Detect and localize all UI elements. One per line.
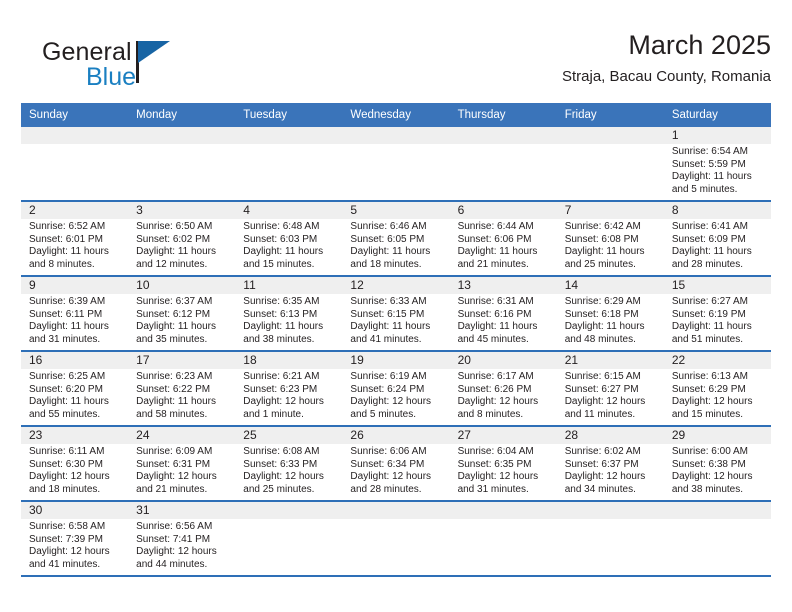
day-number: 20: [458, 352, 551, 369]
day-sunrise-text: Sunrise: 6:42 AM: [565, 221, 658, 234]
day-daylight-line1-text: Daylight: 12 hours: [458, 471, 551, 484]
day-sunset-text: Sunset: 6:06 PM: [458, 234, 551, 247]
day-sunrise-text: Sunrise: 6:56 AM: [136, 521, 229, 534]
calendar-day-cell[interactable]: 12Sunrise: 6:33 AMSunset: 6:15 PMDayligh…: [342, 277, 449, 350]
day-daylight-line1-text: Daylight: 11 hours: [672, 171, 765, 184]
day-number: 14: [565, 277, 658, 294]
calendar-day-cell[interactable]: 28Sunrise: 6:02 AMSunset: 6:37 PMDayligh…: [557, 427, 664, 500]
day-sunset-text: Sunset: 6:38 PM: [672, 459, 765, 472]
calendar-day-cell[interactable]: 14Sunrise: 6:29 AMSunset: 6:18 PMDayligh…: [557, 277, 664, 350]
calendar-day-cell[interactable]: 24Sunrise: 6:09 AMSunset: 6:31 PMDayligh…: [128, 427, 235, 500]
day-daylight-line2-text: and 15 minutes.: [672, 409, 765, 422]
day-daylight-line1-text: Daylight: 12 hours: [565, 396, 658, 409]
calendar-day-cell[interactable]: 25Sunrise: 6:08 AMSunset: 6:33 PMDayligh…: [235, 427, 342, 500]
day-sunset-text: Sunset: 6:30 PM: [29, 459, 122, 472]
day-sunset-text: Sunset: 5:59 PM: [672, 159, 765, 172]
day-number: 6: [458, 202, 551, 219]
day-daylight-line2-text: and 34 minutes.: [565, 484, 658, 497]
day-sun-info: Sunrise: 6:21 AMSunset: 6:23 PMDaylight:…: [243, 369, 336, 421]
day-daylight-line2-text: and 8 minutes.: [458, 409, 551, 422]
day-daylight-line2-text: and 38 minutes.: [672, 484, 765, 497]
day-daylight-line1-text: Daylight: 11 hours: [672, 246, 765, 259]
day-daylight-line1-text: Daylight: 11 hours: [243, 246, 336, 259]
day-sun-info: Sunrise: 6:48 AMSunset: 6:03 PMDaylight:…: [243, 219, 336, 271]
day-sunset-text: Sunset: 6:18 PM: [565, 309, 658, 322]
calendar-day-cell[interactable]: 13Sunrise: 6:31 AMSunset: 6:16 PMDayligh…: [450, 277, 557, 350]
day-sunset-text: Sunset: 6:23 PM: [243, 384, 336, 397]
day-sun-info: Sunrise: 6:44 AMSunset: 6:06 PMDaylight:…: [458, 219, 551, 271]
day-daylight-line2-text: and 31 minutes.: [29, 334, 122, 347]
calendar-day-cell-empty: [342, 127, 449, 200]
day-sunset-text: Sunset: 6:29 PM: [672, 384, 765, 397]
calendar-weeks: 1Sunrise: 6:54 AMSunset: 5:59 PMDaylight…: [21, 127, 771, 577]
day-sunset-text: Sunset: 6:13 PM: [243, 309, 336, 322]
day-daylight-line2-text: and 31 minutes.: [458, 484, 551, 497]
day-number: 2: [29, 202, 122, 219]
day-sunset-text: Sunset: 6:01 PM: [29, 234, 122, 247]
day-sunrise-text: Sunrise: 6:29 AM: [565, 296, 658, 309]
day-sunrise-text: Sunrise: 6:15 AM: [565, 371, 658, 384]
day-daylight-line1-text: Daylight: 11 hours: [29, 246, 122, 259]
day-sun-info: Sunrise: 6:11 AMSunset: 6:30 PMDaylight:…: [29, 444, 122, 496]
day-daylight-line1-text: Daylight: 12 hours: [350, 396, 443, 409]
day-sun-info: Sunrise: 6:35 AMSunset: 6:13 PMDaylight:…: [243, 294, 336, 346]
calendar-day-cell[interactable]: 8Sunrise: 6:41 AMSunset: 6:09 PMDaylight…: [664, 202, 771, 275]
day-number: 31: [136, 502, 229, 519]
calendar-day-cell[interactable]: 19Sunrise: 6:19 AMSunset: 6:24 PMDayligh…: [342, 352, 449, 425]
day-daylight-line1-text: Daylight: 11 hours: [243, 321, 336, 334]
calendar-day-cell-empty: [342, 502, 449, 575]
day-sunset-text: Sunset: 6:22 PM: [136, 384, 229, 397]
day-sun-info: Sunrise: 6:52 AMSunset: 6:01 PMDaylight:…: [29, 219, 122, 271]
calendar-day-cell[interactable]: 21Sunrise: 6:15 AMSunset: 6:27 PMDayligh…: [557, 352, 664, 425]
day-daylight-line2-text: and 18 minutes.: [350, 259, 443, 272]
day-daylight-line1-text: Daylight: 11 hours: [672, 321, 765, 334]
brand-name-blue: Blue: [86, 63, 136, 92]
calendar-week-row: 23Sunrise: 6:11 AMSunset: 6:30 PMDayligh…: [21, 427, 771, 502]
day-sunset-text: Sunset: 6:03 PM: [243, 234, 336, 247]
day-sun-info: Sunrise: 6:31 AMSunset: 6:16 PMDaylight:…: [458, 294, 551, 346]
day-daylight-line2-text: and 45 minutes.: [458, 334, 551, 347]
day-sun-info: Sunrise: 6:17 AMSunset: 6:26 PMDaylight:…: [458, 369, 551, 421]
weekday-header-thursday: Thursday: [450, 103, 557, 127]
calendar-day-cell-empty: [450, 127, 557, 200]
day-daylight-line1-text: Daylight: 11 hours: [29, 321, 122, 334]
day-sunset-text: Sunset: 6:08 PM: [565, 234, 658, 247]
calendar-day-cell-empty: [450, 502, 557, 575]
day-daylight-line1-text: Daylight: 12 hours: [29, 471, 122, 484]
day-sun-info: Sunrise: 6:37 AMSunset: 6:12 PMDaylight:…: [136, 294, 229, 346]
day-sun-info: Sunrise: 6:58 AMSunset: 7:39 PMDaylight:…: [29, 519, 122, 571]
calendar-day-cell[interactable]: 5Sunrise: 6:46 AMSunset: 6:05 PMDaylight…: [342, 202, 449, 275]
title-block: March 2025 Straja, Bacau County, Romania: [562, 28, 771, 88]
calendar-week-row: 9Sunrise: 6:39 AMSunset: 6:11 PMDaylight…: [21, 277, 771, 352]
day-daylight-line1-text: Daylight: 11 hours: [565, 321, 658, 334]
triangle-flag-icon: [138, 41, 170, 63]
day-sunset-text: Sunset: 6:19 PM: [672, 309, 765, 322]
day-sun-info: Sunrise: 6:25 AMSunset: 6:20 PMDaylight:…: [29, 369, 122, 421]
day-number: 21: [565, 352, 658, 369]
day-sunrise-text: Sunrise: 6:52 AM: [29, 221, 122, 234]
day-number: 13: [458, 277, 551, 294]
day-daylight-line1-text: Daylight: 12 hours: [243, 396, 336, 409]
calendar-day-cell[interactable]: 18Sunrise: 6:21 AMSunset: 6:23 PMDayligh…: [235, 352, 342, 425]
day-daylight-line2-text: and 38 minutes.: [243, 334, 336, 347]
day-number: 19: [350, 352, 443, 369]
day-daylight-line1-text: Daylight: 11 hours: [565, 246, 658, 259]
page-subtitle: Straja, Bacau County, Romania: [562, 66, 771, 88]
day-sunset-text: Sunset: 7:39 PM: [29, 534, 122, 547]
day-sunset-text: Sunset: 6:27 PM: [565, 384, 658, 397]
day-number: 18: [243, 352, 336, 369]
day-daylight-line2-text: and 28 minutes.: [672, 259, 765, 272]
calendar-day-cell[interactable]: 11Sunrise: 6:35 AMSunset: 6:13 PMDayligh…: [235, 277, 342, 350]
weekday-header-sunday: Sunday: [21, 103, 128, 127]
day-daylight-line2-text: and 51 minutes.: [672, 334, 765, 347]
day-sunset-text: Sunset: 6:12 PM: [136, 309, 229, 322]
calendar-day-cell[interactable]: 17Sunrise: 6:23 AMSunset: 6:22 PMDayligh…: [128, 352, 235, 425]
day-sunrise-text: Sunrise: 6:58 AM: [29, 521, 122, 534]
calendar-day-cell[interactable]: 20Sunrise: 6:17 AMSunset: 6:26 PMDayligh…: [450, 352, 557, 425]
day-daylight-line1-text: Daylight: 11 hours: [350, 321, 443, 334]
day-daylight-line2-text: and 25 minutes.: [243, 484, 336, 497]
day-sun-info: Sunrise: 6:50 AMSunset: 6:02 PMDaylight:…: [136, 219, 229, 271]
day-number: 7: [565, 202, 658, 219]
day-sunset-text: Sunset: 6:34 PM: [350, 459, 443, 472]
day-daylight-line1-text: Daylight: 12 hours: [458, 396, 551, 409]
calendar-day-cell-empty: [557, 127, 664, 200]
day-sunset-text: Sunset: 6:31 PM: [136, 459, 229, 472]
calendar-day-cell[interactable]: 26Sunrise: 6:06 AMSunset: 6:34 PMDayligh…: [342, 427, 449, 500]
day-sunset-text: Sunset: 6:15 PM: [350, 309, 443, 322]
day-number: 26: [350, 427, 443, 444]
brand-logo[interactable]: General Blue: [42, 38, 272, 98]
day-number: 23: [29, 427, 122, 444]
day-number: 30: [29, 502, 122, 519]
calendar-day-cell[interactable]: 16Sunrise: 6:25 AMSunset: 6:20 PMDayligh…: [21, 352, 128, 425]
day-daylight-line1-text: Daylight: 12 hours: [672, 471, 765, 484]
day-sunrise-text: Sunrise: 6:02 AM: [565, 446, 658, 459]
day-sunrise-text: Sunrise: 6:37 AM: [136, 296, 229, 309]
calendar-day-cell-empty: [21, 127, 128, 200]
day-sunrise-text: Sunrise: 6:19 AM: [350, 371, 443, 384]
day-number: 28: [565, 427, 658, 444]
page-header: General Blue March 2025 Straja, Bacau Co…: [21, 28, 771, 98]
calendar-day-cell[interactable]: 27Sunrise: 6:04 AMSunset: 6:35 PMDayligh…: [450, 427, 557, 500]
day-daylight-line2-text: and 1 minute.: [243, 409, 336, 422]
calendar-grid: Sunday Monday Tuesday Wednesday Thursday…: [21, 103, 771, 577]
day-daylight-line2-text: and 21 minutes.: [458, 259, 551, 272]
day-sunrise-text: Sunrise: 6:06 AM: [350, 446, 443, 459]
day-sunrise-text: Sunrise: 6:00 AM: [672, 446, 765, 459]
day-sunrise-text: Sunrise: 6:33 AM: [350, 296, 443, 309]
day-sunset-text: Sunset: 6:16 PM: [458, 309, 551, 322]
day-sunrise-text: Sunrise: 6:41 AM: [672, 221, 765, 234]
weekday-header-tuesday: Tuesday: [235, 103, 342, 127]
day-sun-info: Sunrise: 6:41 AMSunset: 6:09 PMDaylight:…: [672, 219, 765, 271]
calendar-day-cell-empty: [664, 502, 771, 575]
day-sun-info: Sunrise: 6:46 AMSunset: 6:05 PMDaylight:…: [350, 219, 443, 271]
day-sun-info: Sunrise: 6:00 AMSunset: 6:38 PMDaylight:…: [672, 444, 765, 496]
day-sun-info: Sunrise: 6:19 AMSunset: 6:24 PMDaylight:…: [350, 369, 443, 421]
weekday-header-wednesday: Wednesday: [342, 103, 449, 127]
day-number: 5: [350, 202, 443, 219]
day-number: 12: [350, 277, 443, 294]
day-daylight-line2-text: and 41 minutes.: [350, 334, 443, 347]
day-sunrise-text: Sunrise: 6:08 AM: [243, 446, 336, 459]
day-sun-info: Sunrise: 6:23 AMSunset: 6:22 PMDaylight:…: [136, 369, 229, 421]
calendar-week-row: 2Sunrise: 6:52 AMSunset: 6:01 PMDaylight…: [21, 202, 771, 277]
day-daylight-line2-text: and 21 minutes.: [136, 484, 229, 497]
day-sunset-text: Sunset: 6:05 PM: [350, 234, 443, 247]
weekday-header-monday: Monday: [128, 103, 235, 127]
day-daylight-line1-text: Daylight: 12 hours: [136, 546, 229, 559]
day-number: 16: [29, 352, 122, 369]
calendar-week-row: 30Sunrise: 6:58 AMSunset: 7:39 PMDayligh…: [21, 502, 771, 577]
day-sunrise-text: Sunrise: 6:44 AM: [458, 221, 551, 234]
day-daylight-line2-text: and 8 minutes.: [29, 259, 122, 272]
day-sun-info: Sunrise: 6:02 AMSunset: 6:37 PMDaylight:…: [565, 444, 658, 496]
calendar-day-cell[interactable]: 9Sunrise: 6:39 AMSunset: 6:11 PMDaylight…: [21, 277, 128, 350]
day-daylight-line2-text: and 48 minutes.: [565, 334, 658, 347]
day-sunrise-text: Sunrise: 6:09 AM: [136, 446, 229, 459]
day-sunrise-text: Sunrise: 6:23 AM: [136, 371, 229, 384]
day-sun-info: Sunrise: 6:04 AMSunset: 6:35 PMDaylight:…: [458, 444, 551, 496]
calendar-day-cell[interactable]: 1Sunrise: 6:54 AMSunset: 5:59 PMDaylight…: [664, 127, 771, 200]
day-sun-info: Sunrise: 6:06 AMSunset: 6:34 PMDaylight:…: [350, 444, 443, 496]
day-sun-info: Sunrise: 6:09 AMSunset: 6:31 PMDaylight:…: [136, 444, 229, 496]
day-number: 10: [136, 277, 229, 294]
day-number: 22: [672, 352, 765, 369]
calendar-day-cell-empty: [557, 502, 664, 575]
calendar-day-cell[interactable]: 29Sunrise: 6:00 AMSunset: 6:38 PMDayligh…: [664, 427, 771, 500]
calendar-day-cell[interactable]: 6Sunrise: 6:44 AMSunset: 6:06 PMDaylight…: [450, 202, 557, 275]
day-daylight-line2-text: and 12 minutes.: [136, 259, 229, 272]
day-daylight-line1-text: Daylight: 12 hours: [672, 396, 765, 409]
day-daylight-line1-text: Daylight: 12 hours: [29, 546, 122, 559]
day-sunset-text: Sunset: 6:24 PM: [350, 384, 443, 397]
day-number: 9: [29, 277, 122, 294]
weekday-header-friday: Friday: [557, 103, 664, 127]
day-sunset-text: Sunset: 6:33 PM: [243, 459, 336, 472]
calendar-day-cell[interactable]: 7Sunrise: 6:42 AMSunset: 6:08 PMDaylight…: [557, 202, 664, 275]
day-sunrise-text: Sunrise: 6:39 AM: [29, 296, 122, 309]
day-sunrise-text: Sunrise: 6:48 AM: [243, 221, 336, 234]
day-sunrise-text: Sunrise: 6:04 AM: [458, 446, 551, 459]
day-daylight-line2-text: and 58 minutes.: [136, 409, 229, 422]
day-daylight-line2-text: and 28 minutes.: [350, 484, 443, 497]
calendar-week-row: 16Sunrise: 6:25 AMSunset: 6:20 PMDayligh…: [21, 352, 771, 427]
day-sunset-text: Sunset: 7:41 PM: [136, 534, 229, 547]
day-sunrise-text: Sunrise: 6:11 AM: [29, 446, 122, 459]
day-sunrise-text: Sunrise: 6:54 AM: [672, 146, 765, 159]
day-number: 8: [672, 202, 765, 219]
day-daylight-line1-text: Daylight: 11 hours: [350, 246, 443, 259]
day-sunrise-text: Sunrise: 6:46 AM: [350, 221, 443, 234]
day-number: 1: [672, 127, 765, 144]
day-sun-info: Sunrise: 6:08 AMSunset: 6:33 PMDaylight:…: [243, 444, 336, 496]
day-sun-info: Sunrise: 6:27 AMSunset: 6:19 PMDaylight:…: [672, 294, 765, 346]
day-daylight-line2-text: and 41 minutes.: [29, 559, 122, 572]
calendar-day-cell[interactable]: 31Sunrise: 6:56 AMSunset: 7:41 PMDayligh…: [128, 502, 235, 575]
day-number: 15: [672, 277, 765, 294]
day-daylight-line1-text: Daylight: 11 hours: [136, 321, 229, 334]
day-sunrise-text: Sunrise: 6:50 AM: [136, 221, 229, 234]
calendar-day-cell-empty: [235, 502, 342, 575]
day-sun-info: Sunrise: 6:54 AMSunset: 5:59 PMDaylight:…: [672, 144, 765, 196]
calendar-day-cell-empty: [128, 127, 235, 200]
calendar-day-cell[interactable]: 23Sunrise: 6:11 AMSunset: 6:30 PMDayligh…: [21, 427, 128, 500]
day-number: 25: [243, 427, 336, 444]
day-sunset-text: Sunset: 6:35 PM: [458, 459, 551, 472]
day-daylight-line2-text: and 5 minutes.: [672, 184, 765, 197]
day-daylight-line1-text: Daylight: 11 hours: [29, 396, 122, 409]
day-daylight-line1-text: Daylight: 11 hours: [458, 321, 551, 334]
day-number: 29: [672, 427, 765, 444]
day-daylight-line2-text: and 44 minutes.: [136, 559, 229, 572]
day-sunrise-text: Sunrise: 6:13 AM: [672, 371, 765, 384]
calendar-page: General Blue March 2025 Straja, Bacau Co…: [0, 0, 792, 612]
day-sun-info: Sunrise: 6:33 AMSunset: 6:15 PMDaylight:…: [350, 294, 443, 346]
day-daylight-line1-text: Daylight: 12 hours: [243, 471, 336, 484]
day-daylight-line1-text: Daylight: 11 hours: [136, 396, 229, 409]
day-daylight-line2-text: and 35 minutes.: [136, 334, 229, 347]
day-number: 4: [243, 202, 336, 219]
day-daylight-line1-text: Daylight: 11 hours: [136, 246, 229, 259]
calendar-day-cell[interactable]: 22Sunrise: 6:13 AMSunset: 6:29 PMDayligh…: [664, 352, 771, 425]
day-sunrise-text: Sunrise: 6:35 AM: [243, 296, 336, 309]
day-daylight-line2-text: and 11 minutes.: [565, 409, 658, 422]
day-sun-info: Sunrise: 6:29 AMSunset: 6:18 PMDaylight:…: [565, 294, 658, 346]
day-daylight-line1-text: Daylight: 11 hours: [458, 246, 551, 259]
day-sunset-text: Sunset: 6:20 PM: [29, 384, 122, 397]
calendar-day-cell[interactable]: 3Sunrise: 6:50 AMSunset: 6:02 PMDaylight…: [128, 202, 235, 275]
weekday-header-row: Sunday Monday Tuesday Wednesday Thursday…: [21, 103, 771, 127]
day-number: 24: [136, 427, 229, 444]
calendar-day-cell[interactable]: 2Sunrise: 6:52 AMSunset: 6:01 PMDaylight…: [21, 202, 128, 275]
calendar-day-cell[interactable]: 10Sunrise: 6:37 AMSunset: 6:12 PMDayligh…: [128, 277, 235, 350]
calendar-day-cell[interactable]: 15Sunrise: 6:27 AMSunset: 6:19 PMDayligh…: [664, 277, 771, 350]
day-sunset-text: Sunset: 6:11 PM: [29, 309, 122, 322]
calendar-day-cell-empty: [235, 127, 342, 200]
calendar-day-cell[interactable]: 4Sunrise: 6:48 AMSunset: 6:03 PMDaylight…: [235, 202, 342, 275]
day-sunrise-text: Sunrise: 6:31 AM: [458, 296, 551, 309]
day-sun-info: Sunrise: 6:15 AMSunset: 6:27 PMDaylight:…: [565, 369, 658, 421]
day-daylight-line1-text: Daylight: 12 hours: [350, 471, 443, 484]
day-daylight-line1-text: Daylight: 12 hours: [136, 471, 229, 484]
day-number: 27: [458, 427, 551, 444]
day-sunrise-text: Sunrise: 6:17 AM: [458, 371, 551, 384]
day-number: 17: [136, 352, 229, 369]
day-sunset-text: Sunset: 6:37 PM: [565, 459, 658, 472]
day-number: 11: [243, 277, 336, 294]
day-daylight-line2-text: and 55 minutes.: [29, 409, 122, 422]
day-sun-info: Sunrise: 6:39 AMSunset: 6:11 PMDaylight:…: [29, 294, 122, 346]
weekday-header-saturday: Saturday: [664, 103, 771, 127]
day-sunset-text: Sunset: 6:26 PM: [458, 384, 551, 397]
day-daylight-line2-text: and 25 minutes.: [565, 259, 658, 272]
day-number: 3: [136, 202, 229, 219]
day-sunrise-text: Sunrise: 6:21 AM: [243, 371, 336, 384]
page-title: March 2025: [562, 28, 771, 62]
day-daylight-line2-text: and 18 minutes.: [29, 484, 122, 497]
day-sunrise-text: Sunrise: 6:27 AM: [672, 296, 765, 309]
day-sun-info: Sunrise: 6:13 AMSunset: 6:29 PMDaylight:…: [672, 369, 765, 421]
day-daylight-line1-text: Daylight: 12 hours: [565, 471, 658, 484]
day-daylight-line2-text: and 5 minutes.: [350, 409, 443, 422]
day-sunset-text: Sunset: 6:02 PM: [136, 234, 229, 247]
day-daylight-line2-text: and 15 minutes.: [243, 259, 336, 272]
calendar-day-cell[interactable]: 30Sunrise: 6:58 AMSunset: 7:39 PMDayligh…: [21, 502, 128, 575]
day-sun-info: Sunrise: 6:56 AMSunset: 7:41 PMDaylight:…: [136, 519, 229, 571]
calendar-week-row: 1Sunrise: 6:54 AMSunset: 5:59 PMDaylight…: [21, 127, 771, 202]
day-sun-info: Sunrise: 6:42 AMSunset: 6:08 PMDaylight:…: [565, 219, 658, 271]
day-sunset-text: Sunset: 6:09 PM: [672, 234, 765, 247]
day-sunrise-text: Sunrise: 6:25 AM: [29, 371, 122, 384]
